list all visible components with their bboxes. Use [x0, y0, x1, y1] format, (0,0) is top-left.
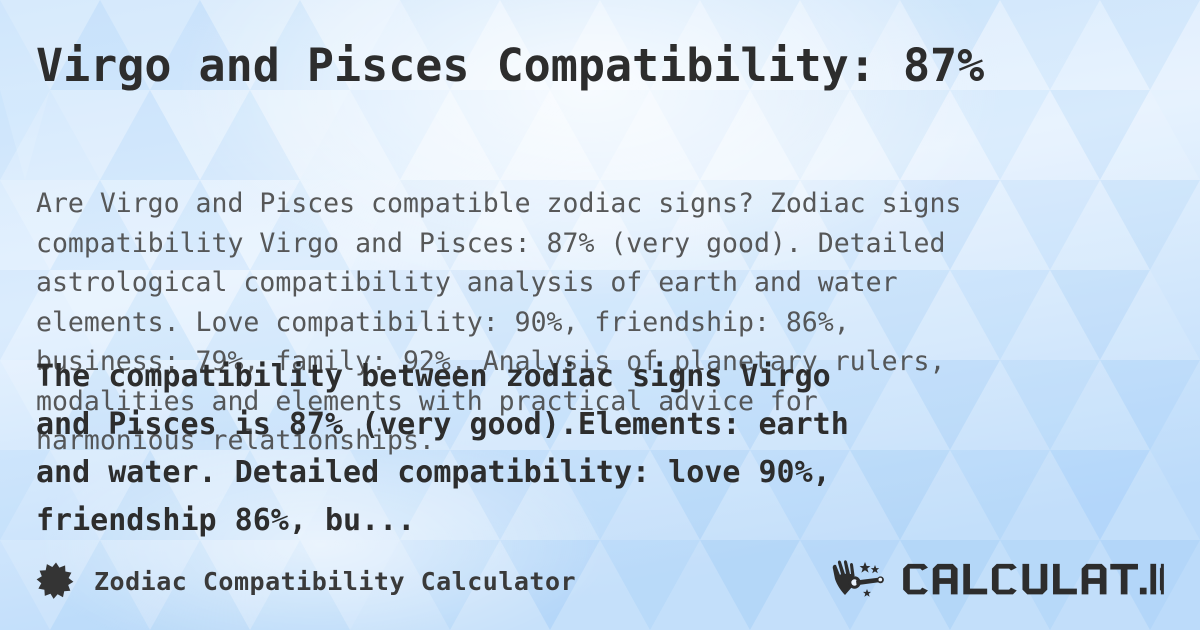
footer: Zodiac Compatibility Calculator — [36, 550, 1170, 612]
calculatio-logo[interactable] — [829, 559, 1170, 603]
description-line: compatibility Virgo and Pisces: 87% (ver… — [36, 224, 1176, 264]
description-line: elements. Love compatibility: 90%, frien… — [36, 303, 1176, 343]
summary-line: The compatibility between zodiac signs V… — [36, 353, 1186, 401]
description-line: Are Virgo and Pisces compatible zodiac s… — [36, 184, 1176, 224]
summary-text: The compatibility between zodiac signs V… — [36, 353, 1186, 545]
hand-magic-wand-icon — [829, 559, 889, 603]
brand-block: Zodiac Compatibility Calculator — [36, 561, 576, 601]
description-line: astrological compatibility analysis of e… — [36, 263, 1176, 303]
summary-line: and Pisces is 87% (very good).Elements: … — [36, 401, 1186, 449]
share-card-canvas: Virgo and Pisces Compatibility: 87% Are … — [0, 0, 1200, 630]
summary-line: friendship 86%, bu... — [36, 497, 1186, 545]
summary-line: and water. Detailed compatibility: love … — [36, 449, 1186, 497]
logo-wordmark — [895, 560, 1170, 602]
brand-label: Zodiac Compatibility Calculator — [94, 567, 576, 596]
page-title: Virgo and Pisces Compatibility: 87% — [36, 38, 1166, 94]
starburst-icon — [36, 561, 76, 601]
